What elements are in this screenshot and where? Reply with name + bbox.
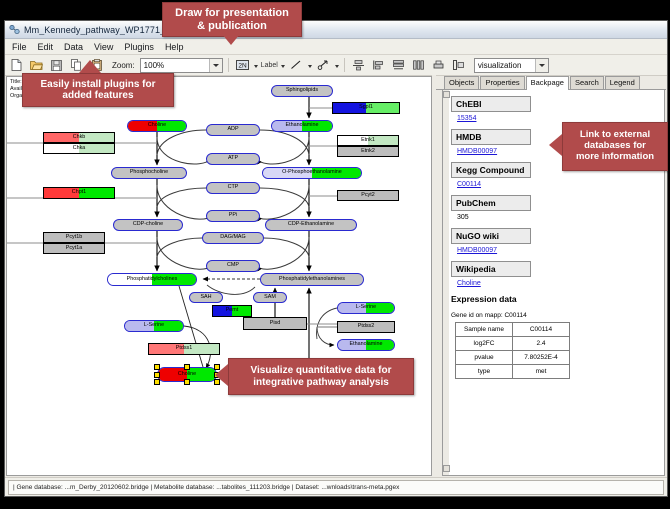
metabolite-adp[interactable]: ADP	[206, 124, 260, 136]
annotation-links-arrow-icon	[549, 134, 562, 156]
metabolite-l-serine-right[interactable]: L-Serine	[337, 302, 395, 314]
expression-row: pvalue7.80252E-4	[456, 351, 570, 365]
expression-row: log2FC2.4	[456, 337, 570, 351]
expression-key: type	[456, 365, 513, 379]
node-label: CMP	[225, 263, 241, 268]
db-value-kegg-compound[interactable]: C00114	[457, 181, 664, 188]
selection-handle[interactable]	[184, 364, 190, 370]
menu-bar: File Edit Data View Plugins Help	[5, 39, 667, 55]
annotation-links-text: Link to external databases for more info…	[576, 130, 654, 163]
gene-chka[interactable]: Chka	[43, 143, 115, 154]
menu-item-help[interactable]: Help	[164, 42, 185, 52]
node-label: CDP-Ethanolamine	[286, 222, 336, 227]
node-label: Pcyt1b	[64, 235, 84, 240]
pathvisio-icon	[9, 24, 20, 35]
gene-sgpl1[interactable]: Sgpl1	[332, 102, 400, 114]
node-label: Pcyt1a	[64, 246, 84, 251]
divider	[228, 58, 229, 72]
expression-row: Sample nameC00114	[456, 323, 570, 337]
node-label: Sphingolipids	[284, 88, 320, 93]
node-label: O-Phosphoethanolamine	[280, 170, 344, 175]
gene-pcyt2[interactable]: Pcyt2	[337, 190, 399, 201]
pathway-canvas[interactable]: Title: Availa Organ	[6, 76, 432, 476]
side-panel-tabs: Objects Properties Backpage Search Legen…	[436, 76, 666, 90]
annotation-draw: Draw for presentation & publication	[162, 2, 302, 37]
gene-ptdss2[interactable]: Ptdss2	[337, 321, 395, 333]
annotation-visualize-text: Visualize quantitative data for integrat…	[251, 365, 392, 388]
expression-value: met	[513, 365, 570, 379]
zoom-combo[interactable]: 100%	[140, 58, 223, 73]
selection-handle[interactable]	[154, 379, 160, 385]
status-bar: | Gene database: ...m_Derby_20120602.bri…	[5, 477, 667, 496]
annotation-visualize: Visualize quantitative data for integrat…	[228, 358, 414, 395]
gene-pcyt1a[interactable]: Pcyt1a	[43, 243, 105, 254]
node-label: ATP	[226, 156, 240, 161]
menu-item-plugins[interactable]: Plugins	[123, 42, 155, 52]
node-label: Etnk2	[359, 149, 377, 154]
menu-item-file[interactable]: File	[11, 42, 28, 52]
metabolite-cmp[interactable]: CMP	[206, 260, 260, 272]
expression-table: Sample nameC00114log2FC2.4pvalue7.80252E…	[455, 322, 570, 379]
metabolite-ctp[interactable]: CTP	[206, 182, 260, 194]
node-label: Ethanolamine	[284, 123, 321, 128]
db-header-hmdb: HMDB	[451, 129, 531, 145]
db-value-wikipedia[interactable]: Choline	[457, 280, 664, 287]
expression-key: log2FC	[456, 337, 513, 351]
order-icon[interactable]	[450, 57, 467, 74]
scroll-down-icon[interactable]	[443, 465, 450, 472]
metabolite-l-serine-left[interactable]: L-Serine	[124, 320, 184, 332]
align-left-icon[interactable]	[370, 57, 387, 74]
db-value-pubchem: 305	[457, 214, 664, 221]
expression-value: 7.80252E-4	[513, 351, 570, 365]
node-label: Pcyt2	[359, 193, 376, 198]
group-icon[interactable]	[430, 57, 447, 74]
node-label: CTP	[226, 185, 241, 190]
node-label: ADP	[225, 127, 240, 132]
distribute-icon[interactable]	[410, 57, 427, 74]
node-label: Ptdss1	[174, 346, 194, 351]
metabolite-sam[interactable]: SAM	[253, 292, 287, 303]
db-header-kegg-compound: Kegg Compound	[451, 162, 531, 178]
open-folder-icon[interactable]	[28, 57, 45, 74]
expression-row: typemet	[456, 365, 570, 379]
node-label: Pisd	[268, 321, 283, 326]
expression-key: pvalue	[456, 351, 513, 365]
metabolite-sah[interactable]: SAH	[189, 292, 223, 303]
annotation-visualize-arrow-icon	[215, 364, 228, 386]
node-label: Etnk1	[359, 138, 377, 143]
tab-legend[interactable]: Legend	[605, 76, 640, 89]
gene-chpt1[interactable]: Chpt1	[43, 187, 115, 199]
tab-search[interactable]: Search	[570, 76, 604, 89]
annotation-plugins-arrow-icon	[79, 60, 101, 73]
node-label: Phosphatidylcholines	[125, 277, 180, 282]
line-tool-icon[interactable]	[288, 57, 305, 74]
node-label: SAH	[198, 295, 213, 300]
datanode-icon[interactable]: 2N	[234, 57, 251, 74]
db-header-wikipedia: Wikipedia	[451, 261, 531, 277]
db-header-pubchem: PubChem	[451, 195, 531, 211]
save-icon[interactable]	[48, 57, 65, 74]
menu-item-edit[interactable]: Edit	[37, 42, 55, 52]
node-label: L-Serine	[354, 305, 378, 310]
metabolite-ethanolamine-top[interactable]: Ethanolamine	[271, 120, 333, 132]
node-label: Choline	[146, 123, 168, 128]
gene-pemt[interactable]: Pemt	[212, 305, 252, 317]
metabolite-ethanolamine-right[interactable]: Ethanolamine	[337, 339, 395, 351]
gene-pisd[interactable]: Pisd	[243, 317, 307, 330]
chevron-down-icon[interactable]	[535, 59, 548, 72]
expression-heading: Expression data	[451, 294, 664, 304]
node-label: Chka	[71, 146, 88, 151]
db-value-chebi[interactable]: 15354	[457, 115, 664, 122]
label-dropdown[interactable]	[281, 61, 285, 70]
node-label: L-Serine	[142, 323, 166, 328]
menu-item-data[interactable]: Data	[63, 42, 84, 52]
node-label: Phosphocholine	[128, 170, 170, 175]
node-label: CDP-choline	[131, 222, 165, 227]
db-header-nugo-wiki: NuGO wiki	[451, 228, 531, 244]
chevron-down-icon[interactable]	[209, 59, 222, 72]
metabolite-phosphatidylcholines[interactable]: Phosphatidylcholines	[107, 273, 197, 286]
new-file-icon[interactable]	[8, 57, 25, 74]
metabolite-cdp-ethanolamine[interactable]: CDP-Ethanolamine	[265, 219, 357, 231]
metabolite-ppi[interactable]: PPi	[206, 210, 260, 222]
node-label: Ptdss2	[356, 324, 376, 329]
node-label: Chpt1	[70, 190, 88, 195]
gene-ptdss1[interactable]: Ptdss1	[148, 343, 220, 355]
node-label: Phosphatidylethanolamines	[277, 277, 347, 282]
metabolite-cdp-choline[interactable]: CDP-choline	[113, 219, 183, 231]
metabolite-choline-top[interactable]: Choline	[127, 120, 187, 132]
svg-text:2N: 2N	[238, 62, 247, 69]
line-dropdown[interactable]	[308, 61, 312, 70]
zoom-value: 100%	[144, 61, 164, 70]
screenshot-root: Mm_Kennedy_pathway_WP1771_45176.gpml Fil…	[0, 0, 670, 509]
gene-pcyt1b[interactable]: Pcyt1b	[43, 232, 105, 243]
gene-etnk2[interactable]: Etnk2	[337, 146, 399, 157]
panel-scroll-gutter[interactable]	[443, 90, 449, 475]
node-label: DAG/MAG	[218, 235, 247, 240]
node-label: PPi	[227, 213, 239, 218]
node-label: Pemt	[224, 308, 241, 313]
db-header-chebi: ChEBI	[451, 96, 531, 112]
tab-backpage[interactable]: Backpage	[526, 76, 569, 90]
visualization-value: visualization	[478, 61, 522, 70]
node-label: Choline	[176, 372, 198, 377]
metabolite-atp[interactable]: ATP	[206, 153, 260, 165]
visualization-combo[interactable]: visualization	[474, 58, 549, 73]
node-label: Sgpl1	[357, 105, 375, 110]
annotation-links: Link to external databases for more info…	[562, 122, 668, 171]
stack-icon[interactable]	[390, 57, 407, 74]
tab-objects[interactable]: Objects	[444, 76, 479, 89]
metabolite-phosphocholine[interactable]: Phosphocholine	[111, 167, 187, 179]
selection-handle[interactable]	[154, 364, 160, 370]
gene-id-label: Gene id on mapp: C00114	[451, 312, 664, 319]
expression-key: Sample name	[456, 323, 513, 337]
interaction-tool-icon[interactable]	[315, 57, 332, 74]
scroll-up-icon[interactable]	[443, 91, 450, 98]
zoom-label: Zoom:	[112, 61, 135, 70]
metabolite-o-phosphoethanolamine[interactable]: O-Phosphoethanolamine	[262, 167, 362, 179]
annotation-plugins: Easily install plugins for added feature…	[22, 73, 174, 107]
datanode-dropdown[interactable]	[254, 61, 258, 70]
tab-properties[interactable]: Properties	[480, 76, 524, 89]
metabolite-phosphatidylethanolamines[interactable]: Phosphatidylethanolamines	[260, 273, 364, 286]
menu-item-view[interactable]: View	[93, 42, 114, 52]
annotation-draw-text: Draw for presentation & publication	[175, 7, 289, 32]
expression-value: C00114	[513, 323, 570, 337]
selection-handle[interactable]	[184, 379, 190, 385]
gene-etnk1[interactable]: Etnk1	[337, 135, 399, 146]
metabolite-dag-mag[interactable]: DAG/MAG	[202, 232, 264, 244]
align-center-icon[interactable]	[350, 57, 367, 74]
db-value-nugo-wiki[interactable]: HMDB00097	[457, 247, 664, 254]
divider	[344, 58, 345, 72]
metabolite-sphingolipids[interactable]: Sphingolipids	[271, 85, 333, 97]
selection-handle[interactable]	[154, 372, 160, 378]
interaction-dropdown[interactable]	[335, 61, 339, 70]
node-label: Chkb	[71, 135, 88, 140]
node-label: Ethanolamine	[348, 342, 385, 347]
title-bar: Mm_Kennedy_pathway_WP1771_45176.gpml	[5, 21, 667, 39]
node-label: SAM	[262, 295, 278, 300]
status-text: | Gene database: ...m_Derby_20120602.bri…	[8, 480, 664, 495]
label-tool[interactable]: Label	[261, 62, 278, 69]
gene-chkb[interactable]: Chkb	[43, 132, 115, 143]
expression-value: 2.4	[513, 337, 570, 351]
annotation-draw-arrow-icon	[222, 34, 240, 45]
annotation-plugins-text: Easily install plugins for added feature…	[40, 79, 155, 102]
